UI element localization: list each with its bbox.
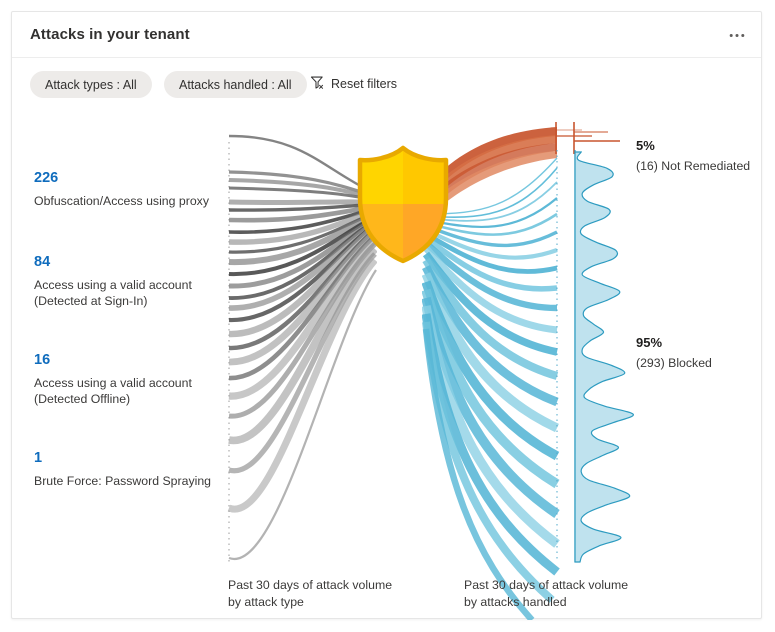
legend-item[interactable]: 5% (16) Not Remediated [636, 137, 750, 175]
attacks-card: Attacks in your tenant Attack types : Al… [11, 11, 762, 619]
blocked-percent: 95% [636, 334, 712, 352]
legend-item[interactable]: 95% (293) Blocked [636, 334, 712, 372]
page-title: Attacks in your tenant [30, 26, 190, 43]
reset-filters-button[interactable]: Reset filters [310, 72, 397, 96]
ellipsis-glyph [729, 33, 745, 38]
filter-clear-icon [310, 75, 325, 93]
not-remediated-detail: (16) Not Remediated [636, 158, 750, 175]
shield-icon [348, 142, 458, 267]
not-remediated-ticks [556, 122, 620, 154]
not-remediated-percent: 5% [636, 137, 750, 155]
left-axis-caption: Past 30 days of attack volume by attack … [228, 577, 398, 610]
filter-pill-attack-types[interactable]: Attack types : All [30, 71, 152, 98]
reset-filters-label: Reset filters [331, 77, 397, 91]
ellipsis-horizontal-icon[interactable] [723, 22, 751, 48]
filter-bar: Attack types : All Attacks handled : All… [12, 58, 761, 110]
right-axis-caption: Past 30 days of attack volume by attacks… [464, 577, 634, 610]
distribution-area [575, 152, 633, 562]
sankey-chart: 226 Obfuscation/Access using proxy 84 Ac… [12, 110, 761, 618]
blocked-detail: (293) Blocked [636, 355, 712, 372]
card-header: Attacks in your tenant [12, 12, 761, 58]
filter-pill-attacks-handled[interactable]: Attacks handled : All [164, 71, 307, 98]
screenshot-root: Attacks in your tenant Attack types : Al… [0, 0, 775, 632]
filter-pill-attack-types-label: Attack types : All [45, 78, 137, 92]
filter-pill-attacks-handled-label: Attacks handled : All [179, 78, 292, 92]
